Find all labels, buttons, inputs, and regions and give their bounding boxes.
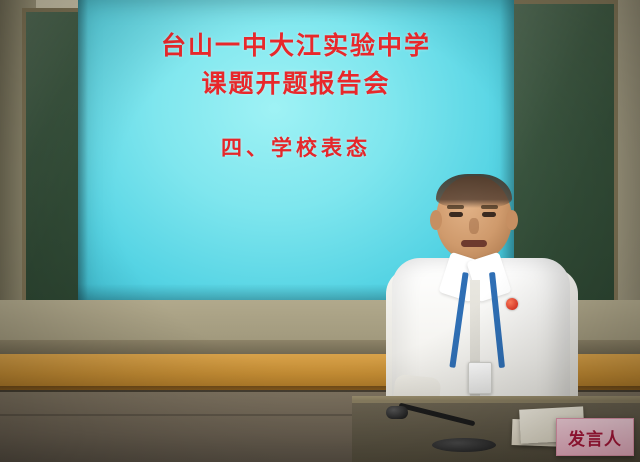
slide-section-heading: 四、学校表态 (78, 132, 514, 162)
nameplate-label: 发言人 (568, 425, 622, 450)
left-eye (449, 212, 463, 217)
id-badge (468, 362, 492, 394)
lapel-pin-icon (506, 298, 518, 310)
left-eyebrow (447, 205, 464, 209)
microphone-head-icon (386, 406, 408, 419)
nameplate: 发言人 (556, 418, 634, 456)
right-eye (482, 212, 496, 217)
photo-scene: 台山一中大江实验中学 课题开题报告会 四、学校表态 (0, 0, 640, 462)
mouth (461, 240, 487, 247)
left-ear (430, 210, 442, 230)
nose (469, 218, 479, 234)
microphone-base (432, 438, 496, 452)
slide-title-line-2: 课题开题报告会 (78, 64, 514, 100)
right-eyebrow (481, 205, 498, 209)
slide-title-line-1: 台山一中大江实验中学 (78, 26, 514, 62)
right-ear (506, 210, 518, 230)
hair (436, 174, 512, 208)
